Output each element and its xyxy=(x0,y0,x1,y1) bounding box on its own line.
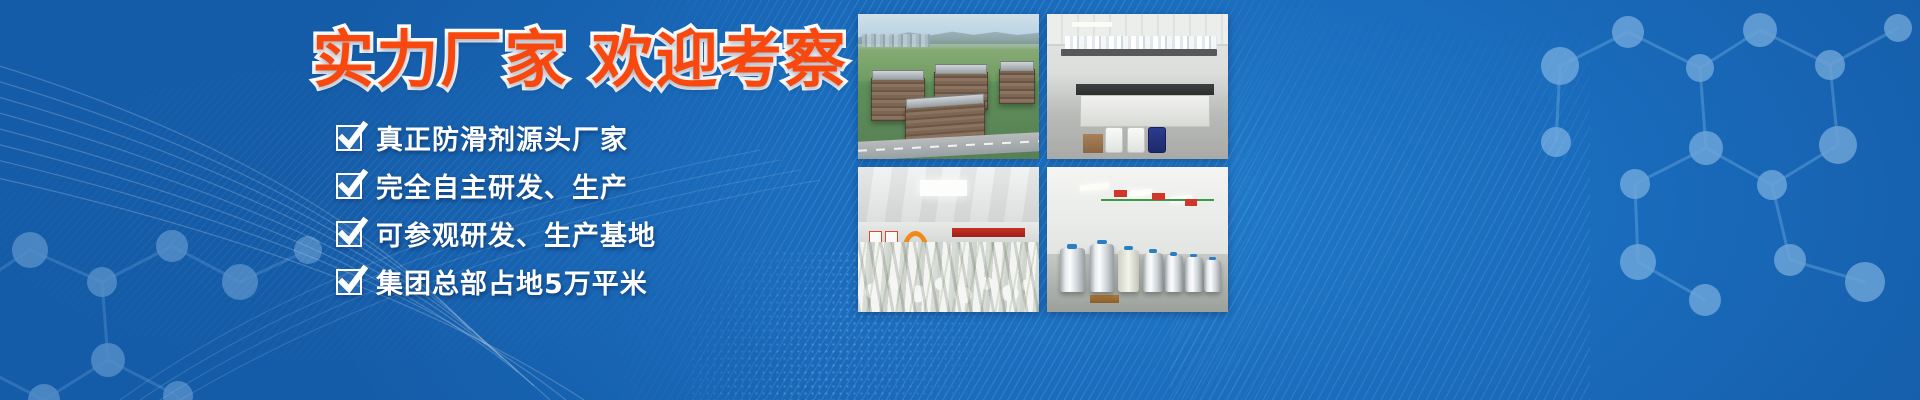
checkbox-checked-icon xyxy=(336,221,362,247)
photo-grid xyxy=(858,14,1228,312)
feature-item: 可参观研发、生产基地 xyxy=(336,214,656,253)
feature-label: 可参观研发、生产基地 xyxy=(376,214,656,253)
feature-label: 真正防滑剂源头厂家 xyxy=(376,118,628,157)
production-equipment-photo xyxy=(1047,167,1228,312)
checkbox-checked-icon xyxy=(336,173,362,199)
feature-label: 集团总部占地5万平米 xyxy=(376,262,648,301)
laboratory-photo xyxy=(1047,14,1228,159)
banner-headline: 实力厂家 欢迎考察 xyxy=(300,26,860,94)
feature-label: 完全自主研发、生产 xyxy=(376,166,628,205)
diagonal-hatch-texture-right xyxy=(1170,0,1590,400)
staff-assembly-photo xyxy=(858,167,1039,312)
checkbox-checked-icon xyxy=(336,125,362,151)
feature-item: 完全自主研发、生产 xyxy=(336,166,656,205)
checkbox-checked-icon xyxy=(336,269,362,295)
promo-banner: 实力厂家 欢迎考察 真正防滑剂源头厂家 完全自主研发、生产 可参观研发、生产基地 xyxy=(0,0,1920,400)
headline-container: 实力厂家 欢迎考察 xyxy=(300,26,860,94)
feature-item: 真正防滑剂源头厂家 xyxy=(336,118,656,157)
feature-item: 集团总部占地5万平米 xyxy=(336,262,656,301)
feature-list: 真正防滑剂源头厂家 完全自主研发、生产 可参观研发、生产基地 集团总部占地5万平… xyxy=(336,118,656,301)
aerial-campus-photo xyxy=(858,14,1039,159)
